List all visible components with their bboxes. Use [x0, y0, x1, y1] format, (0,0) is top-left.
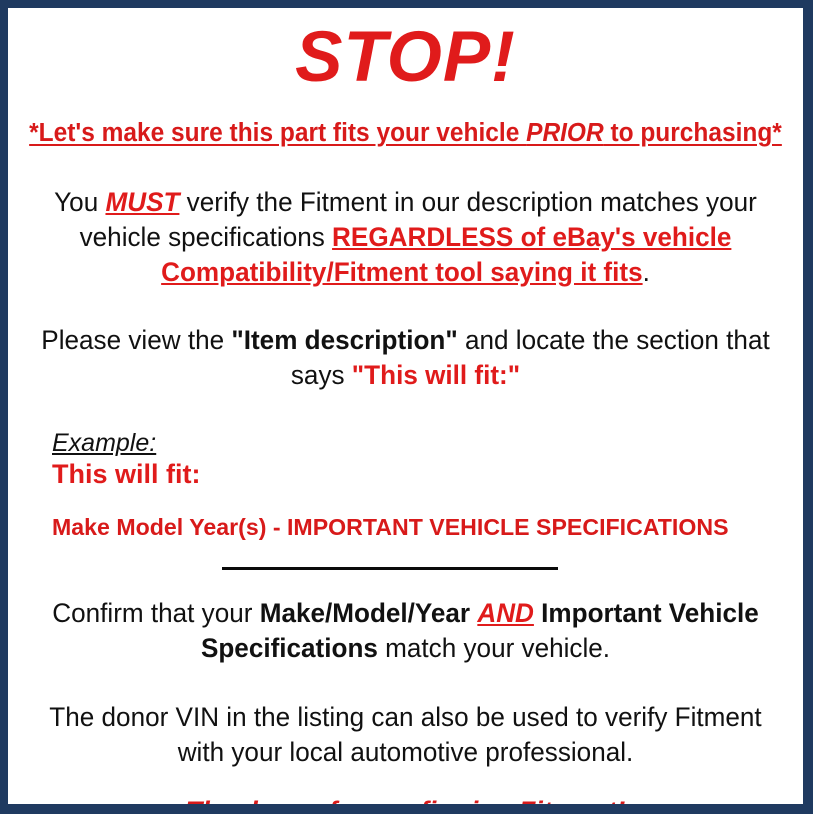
example-label: Example: [52, 429, 156, 457]
example-fit-heading: This will fit: [52, 459, 803, 490]
subtitle-emphasis-prior: PRIOR [526, 119, 604, 147]
emphasis-item-description: "Item description" [231, 325, 457, 355]
emphasis-must: MUST [105, 187, 179, 217]
subtitle-text-before: *Let's make sure this part fits your veh… [29, 119, 526, 147]
subtitle-banner: *Let's make sure this part fits your veh… [24, 119, 787, 147]
emphasis-this-will-fit: "This will fit:" [352, 360, 520, 390]
emphasis-make-model-year: Make/Model/Year [260, 598, 470, 628]
para3-seg2: match your vehicle. [378, 633, 610, 663]
para1-seg3: . [643, 257, 650, 287]
para2-seg1: Please view the [41, 325, 231, 355]
para3-seg1: Confirm that your [52, 598, 259, 628]
emphasis-and: AND [477, 598, 534, 628]
subtitle-text-after: to purchasing* [604, 119, 782, 147]
paragraph-donor-vin: The donor VIN in the listing can also be… [14, 700, 797, 770]
page-title: STOP! [8, 22, 803, 93]
thanks-message: Thank you for confirming Fitment! [8, 795, 803, 804]
paragraph-verify-fitment: You MUST verify the Fitment in our descr… [14, 185, 797, 290]
notice-body: STOP! *Let's make sure this part fits yo… [8, 8, 803, 804]
example-spec-line: Make Model Year(s) - IMPORTANT VEHICLE S… [52, 515, 792, 541]
horizontal-divider [222, 567, 558, 570]
paragraph-confirm: Confirm that your Make/Model/Year AND Im… [14, 596, 797, 666]
fitment-notice-card: STOP! *Let's make sure this part fits yo… [0, 0, 813, 814]
divider-wrap [8, 563, 803, 575]
example-block: Example: This will fit: Make Model Year(… [8, 429, 803, 541]
para1-seg1: You [54, 187, 105, 217]
paragraph-item-description: Please view the "Item description" and l… [14, 323, 797, 393]
